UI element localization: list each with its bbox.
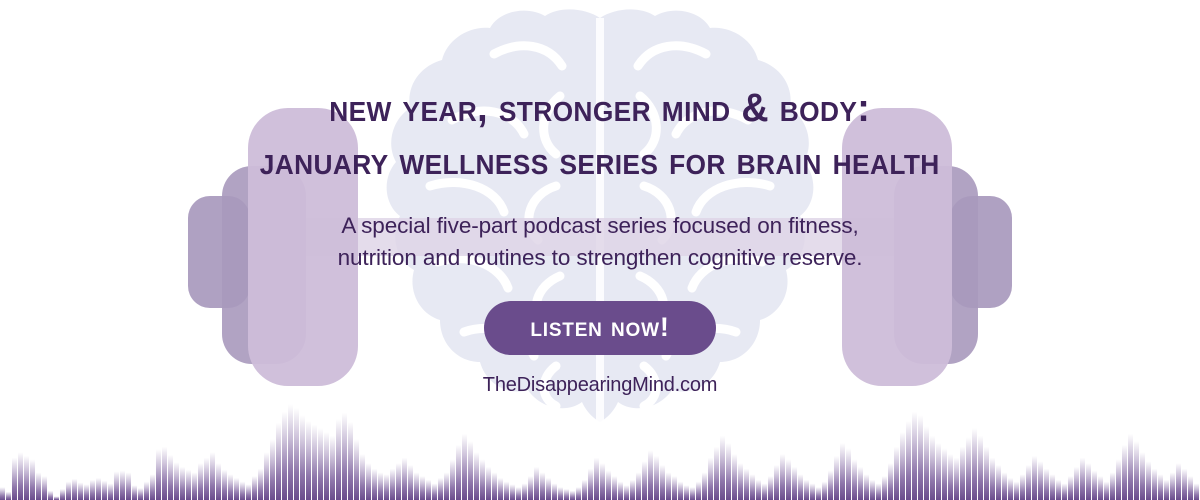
podcast-promo-banner: New Year, Stronger Mind & Body: January … (0, 0, 1200, 500)
banner-content: New Year, Stronger Mind & Body: January … (0, 0, 1200, 500)
subtitle-line-1: A special five-part podcast series focus… (338, 210, 863, 242)
listen-now-button[interactable]: Listen now! (484, 301, 715, 355)
subtitle-line-2: nutrition and routines to strengthen cog… (338, 242, 863, 274)
headline-line-2: January Wellness Series for Brain Health (260, 135, 940, 188)
headline-line-1: New Year, Stronger Mind & Body: (260, 82, 940, 135)
cta-container: Listen now! (484, 301, 715, 355)
banner-subtitle: A special five-part podcast series focus… (338, 210, 863, 274)
page-title: New Year, Stronger Mind & Body: January … (260, 82, 940, 188)
website-url-link[interactable]: TheDisappearingMind.com (483, 374, 717, 397)
